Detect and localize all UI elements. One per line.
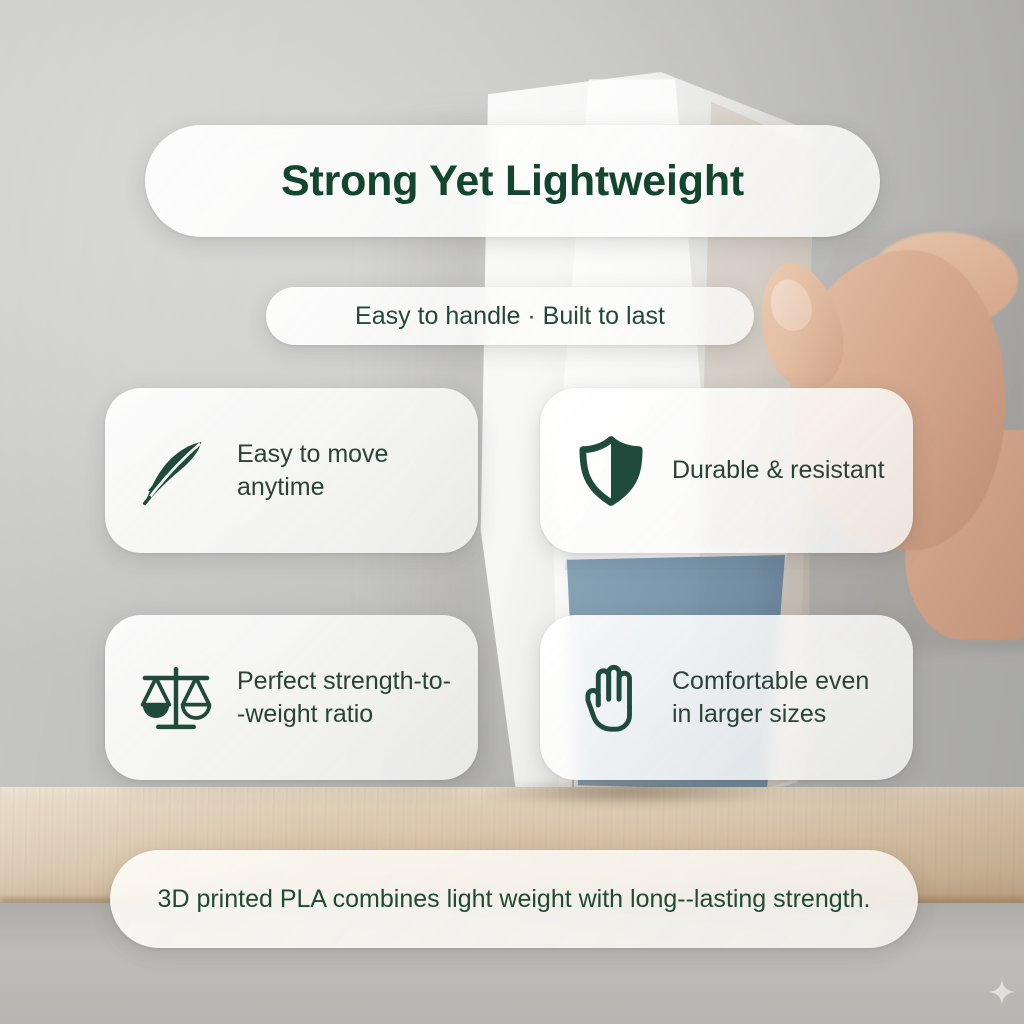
feature-card-comfortable[interactable]: Comfortable even in larger sizes xyxy=(540,615,913,780)
footer-pill: 3D printed PLA combines light weight wit… xyxy=(110,850,918,948)
feature-card-easy-to-move[interactable]: Easy to move anytime xyxy=(105,388,478,553)
feature-card-label: Perfect strength-to--weight ratio xyxy=(237,665,456,731)
shield-icon xyxy=(568,428,654,514)
subtitle-pill: Easy to handle · Built to last xyxy=(266,287,754,345)
page-title: Strong Yet Lightweight xyxy=(281,160,744,203)
title-pill: Strong Yet Lightweight xyxy=(145,125,880,237)
page-subtitle: Easy to handle · Built to last xyxy=(355,304,665,329)
feature-card-label: Comfortable even in larger sizes xyxy=(672,665,891,731)
sparkle-icon xyxy=(988,978,1016,1006)
open-hand-icon xyxy=(568,655,654,741)
feature-card-durable[interactable]: Durable & resistant xyxy=(540,388,913,553)
feather-icon xyxy=(133,428,219,514)
footer-text: 3D printed PLA combines light weight wit… xyxy=(120,882,909,916)
balance-scale-icon xyxy=(133,655,219,741)
feature-card-label: Easy to move anytime xyxy=(237,438,456,504)
feature-card-label: Durable & resistant xyxy=(672,454,885,487)
promo-infographic: Strong Yet Lightweight Easy to handle · … xyxy=(0,0,1024,1024)
object-contact-shadow xyxy=(480,782,780,806)
feature-card-strength-to-weight[interactable]: Perfect strength-to--weight ratio xyxy=(105,615,478,780)
